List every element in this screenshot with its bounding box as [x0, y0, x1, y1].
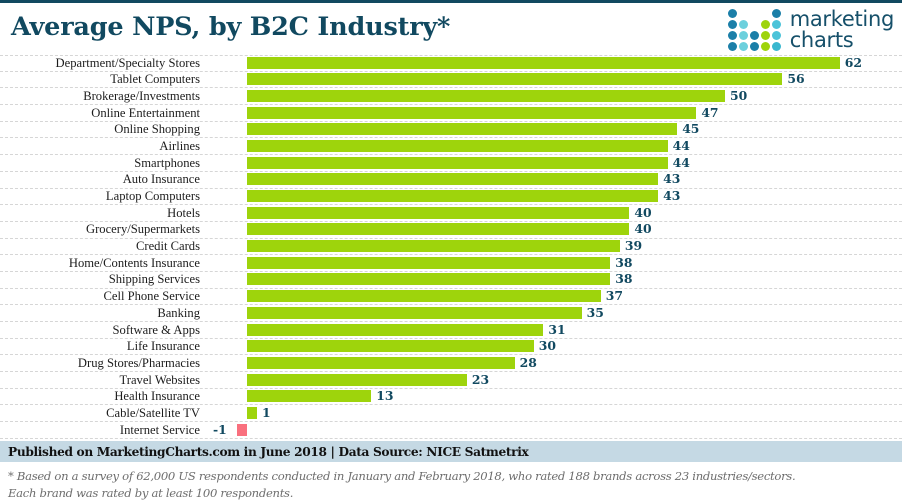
- bar: [247, 190, 658, 202]
- bar-track: 13: [206, 388, 902, 405]
- logo-dot-4: [772, 9, 781, 18]
- bar-track: 31: [206, 322, 902, 339]
- bar-track: 43: [206, 171, 902, 188]
- chart-row: Online Shopping45: [0, 122, 902, 139]
- footnotes: * Based on a survey of 62,000 US respond…: [0, 462, 902, 502]
- logo-dot-8: [761, 20, 770, 29]
- bar: [247, 57, 840, 69]
- logo-dot-12: [750, 31, 759, 40]
- chart-header: Average NPS, by B2C Industry* marketing …: [0, 3, 902, 55]
- bar: [247, 307, 582, 319]
- logo-dot-19: [772, 42, 781, 51]
- chart-row: Drug Stores/Pharmacies28: [0, 355, 902, 372]
- bar-value-label: 35: [587, 306, 604, 320]
- bar-value-label: 43: [663, 172, 680, 186]
- category-label: Hotels: [0, 207, 206, 220]
- chart-row: Health Insurance13: [0, 389, 902, 406]
- logo-dot-15: [728, 42, 737, 51]
- bar-value-label: 43: [663, 189, 680, 203]
- bar-track: 38: [206, 271, 902, 288]
- chart-row: Internet Service-1: [0, 422, 902, 439]
- bar-value-label: 47: [701, 106, 718, 120]
- chart-row: Cable/Satellite TV1: [0, 405, 902, 422]
- chart-row: Tablet Computers56: [0, 72, 902, 89]
- chart-row: Software & Apps31: [0, 322, 902, 339]
- bar-track: 43: [206, 188, 902, 205]
- category-label: Shipping Services: [0, 273, 206, 286]
- bar-value-label: 50: [730, 89, 747, 103]
- bar-value-label: 62: [845, 56, 862, 70]
- bar-value-label: 13: [376, 389, 393, 403]
- category-label: Banking: [0, 307, 206, 320]
- bar: [247, 290, 601, 302]
- bar: [247, 374, 467, 386]
- category-label: Tablet Computers: [0, 73, 206, 86]
- bar-track: 37: [206, 288, 902, 305]
- published-band: Published on MarketingCharts.com in June…: [0, 441, 902, 462]
- category-label: Auto Insurance: [0, 173, 206, 186]
- logo-dot-matrix-icon: [728, 9, 781, 51]
- logo-dot-1: [739, 9, 748, 18]
- bar-value-label: 1: [262, 406, 271, 420]
- bar-chart-plot: Department/Specialty Stores62Tablet Comp…: [0, 55, 902, 439]
- logo-dot-7: [750, 20, 759, 29]
- logo-dot-2: [750, 9, 759, 18]
- bar-track: 35: [206, 305, 902, 322]
- chart-row: Online Entertainment47: [0, 105, 902, 122]
- bar: [247, 207, 629, 219]
- logo-line-charts: charts: [790, 30, 894, 51]
- marketing-charts-logo: marketing charts: [728, 9, 894, 51]
- bar: [247, 223, 629, 235]
- logo-dot-5: [728, 20, 737, 29]
- chart-row: Auto Insurance43: [0, 172, 902, 189]
- category-label: Internet Service: [0, 424, 206, 437]
- category-label: Laptop Computers: [0, 190, 206, 203]
- chart-row: Life Insurance30: [0, 339, 902, 356]
- bar-track: 30: [206, 338, 902, 355]
- bar-value-label: 44: [673, 139, 690, 153]
- bar-value-label: 23: [472, 373, 489, 387]
- logo-wordmark: marketing charts: [790, 9, 894, 50]
- bar-value-label: 31: [548, 323, 565, 337]
- bar-track: 62: [206, 55, 902, 72]
- bar-value-label: 30: [539, 339, 556, 353]
- category-label: Health Insurance: [0, 390, 206, 403]
- bar-value-label: 56: [787, 72, 804, 86]
- bar: [247, 73, 782, 85]
- category-label: Online Entertainment: [0, 107, 206, 120]
- bar: [247, 90, 725, 102]
- bar: [247, 173, 658, 185]
- bar-track: 45: [206, 121, 902, 138]
- bar: [247, 107, 696, 119]
- logo-dot-18: [761, 42, 770, 51]
- bar-track: 23: [206, 372, 902, 389]
- bar-value-label: 38: [615, 272, 632, 286]
- chart-row: Grocery/Supermarkets40: [0, 222, 902, 239]
- bar-track: -1: [206, 422, 902, 439]
- category-label: Cell Phone Service: [0, 290, 206, 303]
- bar-value-label: 40: [634, 222, 651, 236]
- chart-row: Airlines44: [0, 138, 902, 155]
- bar-track: 39: [206, 238, 902, 255]
- published-text: Published on MarketingCharts.com in June…: [8, 445, 528, 459]
- bar-value-label: 44: [673, 156, 690, 170]
- chart-row: Banking35: [0, 305, 902, 322]
- logo-line-marketing: marketing: [790, 9, 894, 30]
- bar: [247, 273, 610, 285]
- chart-footer: Published on MarketingCharts.com in June…: [0, 441, 902, 502]
- bar-track: 50: [206, 88, 902, 105]
- category-label: Credit Cards: [0, 240, 206, 253]
- logo-dot-13: [761, 31, 770, 40]
- chart-row: Department/Specialty Stores62: [0, 55, 902, 72]
- bar: [247, 324, 543, 336]
- category-label: Life Insurance: [0, 340, 206, 353]
- logo-dot-16: [739, 42, 748, 51]
- chart-row: Home/Contents Insurance38: [0, 255, 902, 272]
- bar: [247, 407, 257, 419]
- bar: [247, 257, 610, 269]
- chart-row: Brokerage/Investments50: [0, 88, 902, 105]
- bar-value-label: 28: [520, 356, 537, 370]
- bar: [247, 140, 668, 152]
- logo-dot-14: [772, 31, 781, 40]
- bar: [247, 240, 620, 252]
- category-label: Online Shopping: [0, 123, 206, 136]
- bar-track: 44: [206, 138, 902, 155]
- chart-row: Laptop Computers43: [0, 189, 902, 206]
- chart-row: Cell Phone Service37: [0, 289, 902, 306]
- chart-row: Smartphones44: [0, 155, 902, 172]
- logo-dot-11: [739, 31, 748, 40]
- bar-value-label: 39: [625, 239, 642, 253]
- bar-value-label: 45: [682, 122, 699, 136]
- category-label: Drug Stores/Pharmacies: [0, 357, 206, 370]
- chart-row: Credit Cards39: [0, 239, 902, 256]
- bar: [247, 340, 534, 352]
- category-label: Grocery/Supermarkets: [0, 223, 206, 236]
- category-label: Airlines: [0, 140, 206, 153]
- category-label: Home/Contents Insurance: [0, 257, 206, 270]
- bar-track: 40: [206, 221, 902, 238]
- bar-track: 47: [206, 105, 902, 122]
- bar-track: 38: [206, 255, 902, 272]
- bar-track: 56: [206, 71, 902, 88]
- bar: [247, 390, 371, 402]
- bar-value-label: 40: [634, 206, 651, 220]
- category-label: Travel Websites: [0, 374, 206, 387]
- footnote-line-2: Each brand was rated by at least 100 res…: [8, 485, 894, 502]
- category-label: Department/Specialty Stores: [0, 57, 206, 70]
- category-label: Cable/Satellite TV: [0, 407, 206, 420]
- logo-dot-9: [772, 20, 781, 29]
- chart-row: Hotels40: [0, 205, 902, 222]
- bar-negative: [237, 424, 247, 436]
- logo-dot-10: [728, 31, 737, 40]
- chart-row: Shipping Services38: [0, 272, 902, 289]
- page-title: Average NPS, by B2C Industry*: [11, 12, 450, 42]
- bar: [247, 123, 677, 135]
- category-label: Smartphones: [0, 157, 206, 170]
- bar-value-label: 37: [606, 289, 623, 303]
- category-label: Software & Apps: [0, 324, 206, 337]
- bar: [247, 157, 668, 169]
- chart-row: Travel Websites23: [0, 372, 902, 389]
- chart-page: Average NPS, by B2C Industry* marketing …: [0, 0, 902, 502]
- bar-track: 44: [206, 155, 902, 172]
- bar-track: 40: [206, 205, 902, 222]
- category-label: Brokerage/Investments: [0, 90, 206, 103]
- logo-dot-6: [739, 20, 748, 29]
- bar-track: 1: [206, 405, 902, 422]
- logo-dot-17: [750, 42, 759, 51]
- bar-track: 28: [206, 355, 902, 372]
- logo-dot-0: [728, 9, 737, 18]
- bar-value-label: 38: [615, 256, 632, 270]
- footnote-line-1: * Based on a survey of 62,000 US respond…: [8, 468, 894, 485]
- bar: [247, 357, 515, 369]
- logo-dot-3: [761, 9, 770, 18]
- bar-value-label: -1: [213, 423, 227, 437]
